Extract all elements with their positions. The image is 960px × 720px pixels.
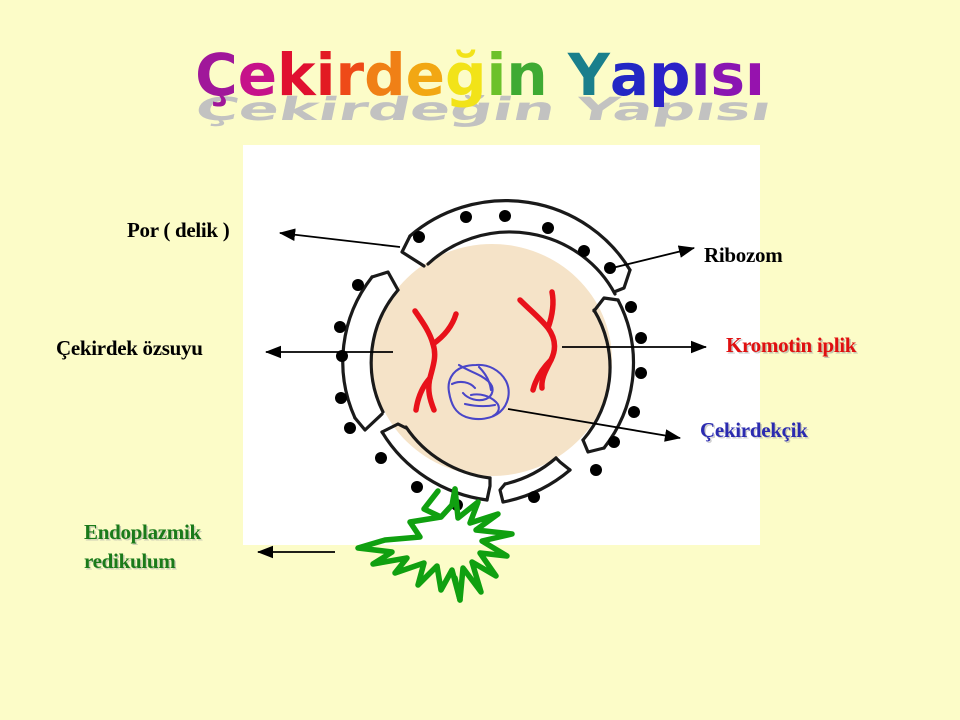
slide-canvas: Çekirdeğin Yapısı Çekirdeğin Yapısı: [0, 0, 960, 720]
label-nucleolus: Çekirdekçik: [700, 418, 808, 443]
ribosome-dot: [335, 392, 347, 404]
ribosome-dot: [499, 210, 511, 222]
ribosome-dot: [590, 464, 602, 476]
ribosome-dot: [635, 367, 647, 379]
label-ribosome: Ribozom: [704, 243, 782, 268]
ribosome-dot: [578, 245, 590, 257]
ribosome-dot: [375, 452, 387, 464]
label-er-line2: redikulum: [84, 547, 201, 576]
label-nucleoplasm: Çekirdek özsuyu: [56, 336, 203, 361]
envelope-left-outer: [343, 277, 372, 418]
arrow-por: [280, 233, 400, 247]
label-nuclear-pore: Por ( delik ): [127, 218, 229, 243]
ribosome-dot: [344, 422, 356, 434]
ribosome-dot: [460, 211, 472, 223]
ribosome-dot: [628, 406, 640, 418]
arrow-ribozom: [612, 248, 694, 268]
ribosome-dot: [411, 481, 423, 493]
endoplasmic-reticulum: [358, 489, 512, 600]
ribosome-dot: [608, 436, 620, 448]
label-er-line1: Endoplazmik: [84, 518, 201, 547]
er-tubule: [358, 489, 512, 600]
ribosome-dot: [352, 279, 364, 291]
pore-cap-br-right: [556, 458, 570, 470]
ribosome-dot: [334, 321, 346, 333]
ribosome-dot: [542, 222, 554, 234]
pore-cap-bl-right: [487, 478, 490, 500]
pore-cap-right-bottom: [583, 440, 604, 452]
ribosome-dot: [635, 332, 647, 344]
pore-cap-br-left: [500, 484, 505, 502]
pore-cap-top-right: [614, 270, 630, 292]
ribosome-dot: [528, 491, 540, 503]
er-tubule-branch: [441, 489, 455, 517]
nucleoplasm-fill: [372, 244, 612, 476]
ribosome-dot: [413, 231, 425, 243]
label-chromatin-thread: Kromotin iplik: [726, 333, 856, 358]
pore-cap-left-top: [372, 272, 398, 290]
ribosome-dot: [625, 301, 637, 313]
pore-cap-left-bottom: [355, 414, 382, 430]
label-endoplasmic-reticulum: Endoplazmik redikulum: [84, 518, 201, 576]
